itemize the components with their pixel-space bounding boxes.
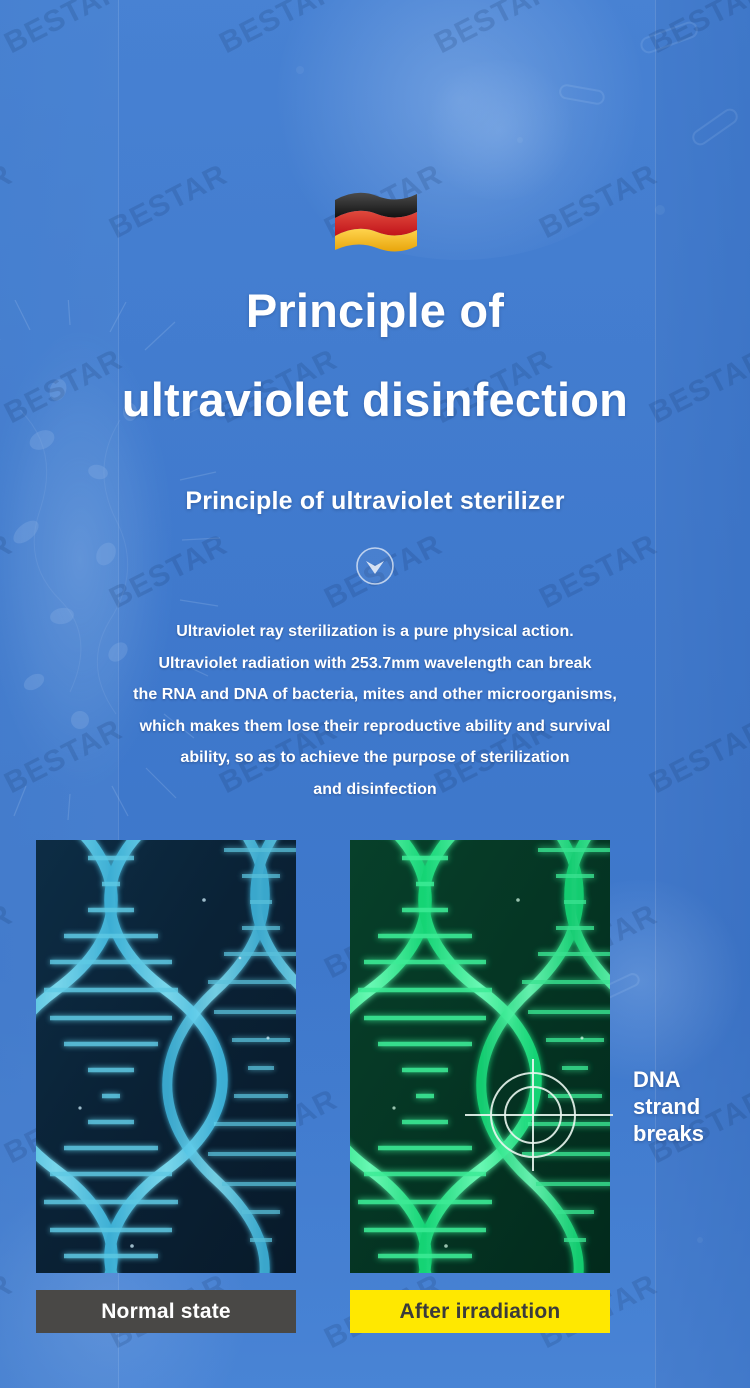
body-paragraph-line-4: which makes them lose their reproductive…: [0, 711, 750, 743]
dna-strand-breaks-line-3: breaks: [633, 1120, 748, 1147]
chevron-down-circle-icon[interactable]: [0, 546, 750, 591]
caption-after-irradiation: After irradiation: [350, 1290, 610, 1333]
german-flag-icon: [0, 186, 750, 252]
page-title: Principle of ultraviolet disinfection: [0, 266, 750, 444]
background-glow: [420, 60, 580, 200]
body-paragraph: Ultraviolet ray sterilization is a pure …: [0, 616, 750, 805]
page-subtitle: Principle of ultraviolet sterilizer: [0, 487, 750, 516]
body-paragraph-line-2: Ultraviolet radiation with 253.7mm wavel…: [0, 648, 750, 680]
body-paragraph-line-1: Ultraviolet ray sterilization is a pure …: [0, 616, 750, 648]
caption-normal-state: Normal state: [36, 1290, 296, 1333]
promo-page: BESTARBESTARBESTARBESTARBESTARBESTARBEST…: [0, 0, 750, 1388]
page-title-line-1: Principle of: [246, 284, 504, 337]
dna-comparison-panels: [0, 840, 750, 1273]
watermark-text: BESTAR: [0, 0, 128, 61]
dna-helix-normal-image: [36, 840, 296, 1273]
dna-strand-breaks-line-2: strand: [633, 1093, 748, 1120]
dna-strand-breaks-label: DNAstrandbreaks: [633, 1066, 748, 1147]
watermark-text: BESTAR: [214, 0, 343, 61]
watermark-text: BESTAR: [0, 1268, 18, 1356]
body-paragraph-line-5: ability, so as to achieve the purpose of…: [0, 742, 750, 774]
dna-helix-irradiated-image: [350, 840, 610, 1273]
dna-strand-breaks-line-1: DNA: [633, 1066, 748, 1093]
body-paragraph-line-3: the RNA and DNA of bacteria, mites and o…: [0, 679, 750, 711]
watermark-text: BESTAR: [644, 0, 750, 61]
page-title-line-2: ultraviolet disinfection: [0, 355, 750, 444]
body-paragraph-line-6: and disinfection: [0, 774, 750, 806]
watermark-text: BESTAR: [429, 0, 558, 61]
